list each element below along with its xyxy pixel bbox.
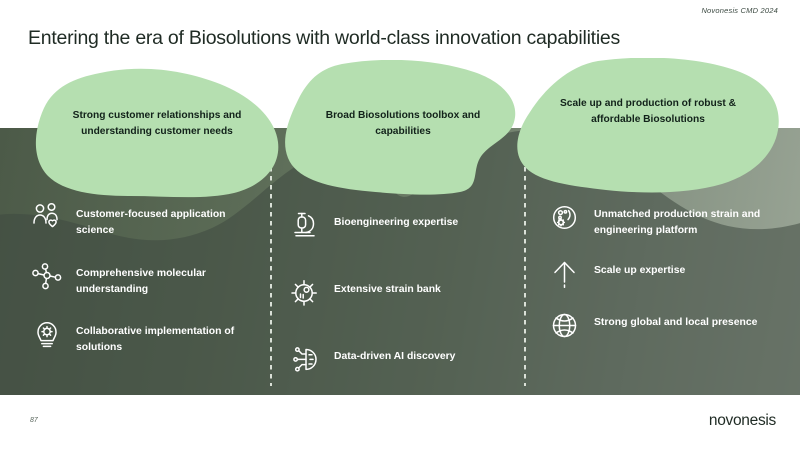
globe-icon — [548, 309, 582, 343]
list-item-label: Scale up expertise — [594, 260, 685, 279]
up-arrow-icon — [548, 257, 582, 291]
slide-canvas: Novonesis CMD 2024 Entering the era of B… — [0, 0, 800, 450]
slide-source-note: Novonesis CMD 2024 — [701, 6, 778, 15]
page-number: 87 — [30, 417, 38, 424]
pillar-column-3: Unmatched production strain and engineer… — [548, 204, 780, 369]
microscope-icon — [288, 209, 322, 243]
list-item-label: Unmatched production strain and engineer… — [594, 204, 780, 238]
list-item-label: Comprehensive molecular understanding — [76, 263, 262, 297]
list-item: Bioengineering expertise — [288, 212, 520, 243]
people-heart-icon — [30, 201, 64, 235]
list-item: Comprehensive molecular understanding — [30, 263, 262, 297]
pillar-heading-text-1: Strong customer relationships and unders… — [34, 108, 280, 140]
list-item-label: Strong global and local presence — [594, 312, 757, 331]
list-item-label: Bioengineering expertise — [334, 212, 458, 231]
molecule-icon — [30, 260, 64, 294]
pillar-heading-blob-1: Strong customer relationships and unders… — [34, 68, 280, 198]
pillar-heading-blob-3: Scale up and production of robust & affo… — [514, 58, 782, 194]
list-item: Scale up expertise — [548, 260, 780, 291]
pillar-heading-text-2: Broad Biosolutions toolbox and capabilit… — [284, 108, 522, 140]
pillar-column-1: Customer-focused application science Com… — [30, 204, 262, 382]
microbe-icon — [288, 276, 322, 310]
list-item: Unmatched production strain and engineer… — [548, 204, 780, 238]
petri-dish-icon — [548, 201, 582, 235]
list-item-label: Data-driven AI discovery — [334, 346, 455, 365]
list-item-label: Extensive strain bank — [334, 279, 441, 298]
pillar-column-2: Bioengineering expertise Exten — [288, 204, 520, 413]
list-item: Extensive strain bank — [288, 279, 520, 310]
ai-brain-circuit-icon — [288, 343, 322, 377]
pillar-heading-text-3: Scale up and production of robust & affo… — [514, 96, 782, 128]
pillar-heading-blob-2: Broad Biosolutions toolbox and capabilit… — [284, 60, 522, 195]
lightbulb-gear-icon — [30, 318, 64, 352]
list-item: Collaborative implementation of solution… — [30, 321, 262, 355]
page-title: Entering the era of Biosolutions with wo… — [28, 27, 620, 50]
novonesis-logo: novonesis — [709, 412, 776, 430]
list-item: Data-driven AI discovery — [288, 346, 520, 377]
list-item: Strong global and local presence — [548, 312, 780, 343]
list-item-label: Customer-focused application science — [76, 204, 262, 238]
list-item: Customer-focused application science — [30, 204, 262, 238]
list-item-label: Collaborative implementation of solution… — [76, 321, 262, 355]
